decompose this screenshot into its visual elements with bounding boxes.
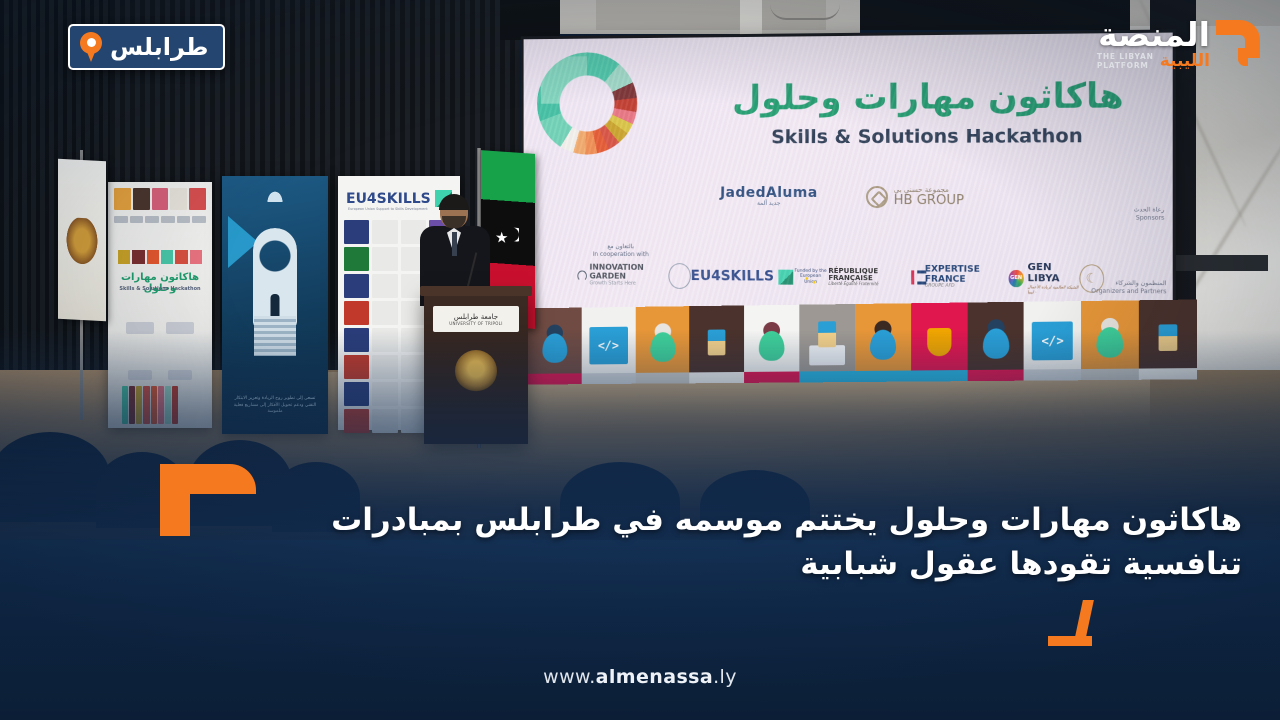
brand-logo[interactable]: المنصة THE LIBYAN PLATFORM الليبية: [1097, 18, 1264, 71]
news-card-screenshot: هاكاثون مهارات وحلول Skills & Solutions …: [0, 0, 1280, 720]
brand-second-row: THE LIBYAN PLATFORM الليبية: [1097, 52, 1210, 71]
headline-line-1: هاكاثون مهارات وحلول يختتم موسمه في طراب…: [331, 502, 1242, 538]
location-badge-label: طرابلس: [110, 35, 209, 59]
brand-arabic-primary: المنصة: [1098, 18, 1210, 51]
website-prefix: www.: [543, 666, 596, 688]
headline-line-2: تنافسية تقودها عقول شبابية: [222, 542, 1242, 586]
brand-hook-icon: [1214, 18, 1264, 70]
website-tld: .ly: [713, 666, 737, 688]
quote-bracket-close-icon: [1048, 600, 1114, 652]
brand-english: THE LIBYAN PLATFORM: [1097, 52, 1154, 71]
website-url[interactable]: www.almenassa.ly: [0, 666, 1280, 688]
location-badge[interactable]: طرابلس: [68, 24, 225, 70]
headline: هاكاثون مهارات وحلول يختتم موسمه في طراب…: [222, 498, 1242, 586]
brand-english-line2: PLATFORM: [1097, 61, 1149, 70]
brand-english-line1: THE LIBYAN: [1097, 52, 1154, 61]
map-pin-icon: [80, 32, 102, 62]
brand-text-stack: المنصة THE LIBYAN PLATFORM الليبية: [1097, 18, 1210, 71]
website-name: almenassa: [596, 666, 713, 688]
brand-arabic-secondary: الليبية: [1160, 53, 1210, 70]
